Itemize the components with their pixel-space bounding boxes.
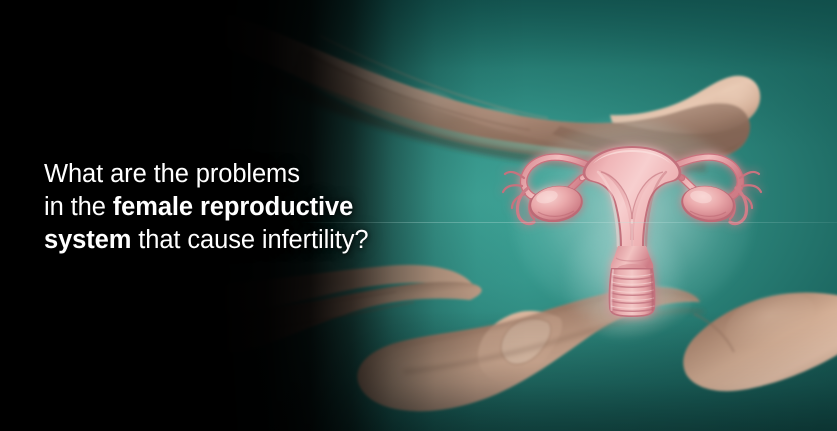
headline-line-2-regular: in the <box>44 193 113 221</box>
headline: What are the problems in the female repr… <box>44 158 484 257</box>
headline-line-1-text: What are the problems <box>44 160 300 188</box>
bottom-shadow-overlay <box>0 311 837 431</box>
headline-line-3-regular: that cause infertility? <box>131 226 368 254</box>
headline-line-2: in the female reproductive <box>44 191 484 224</box>
headline-line-3-bold: system <box>44 226 131 254</box>
headline-line-1: What are the problems <box>44 158 484 191</box>
infertility-banner: What are the problems in the female repr… <box>0 0 837 431</box>
headline-line-2-bold: female reproductive <box>113 193 353 221</box>
headline-line-3: system that cause infertility? <box>44 224 484 257</box>
